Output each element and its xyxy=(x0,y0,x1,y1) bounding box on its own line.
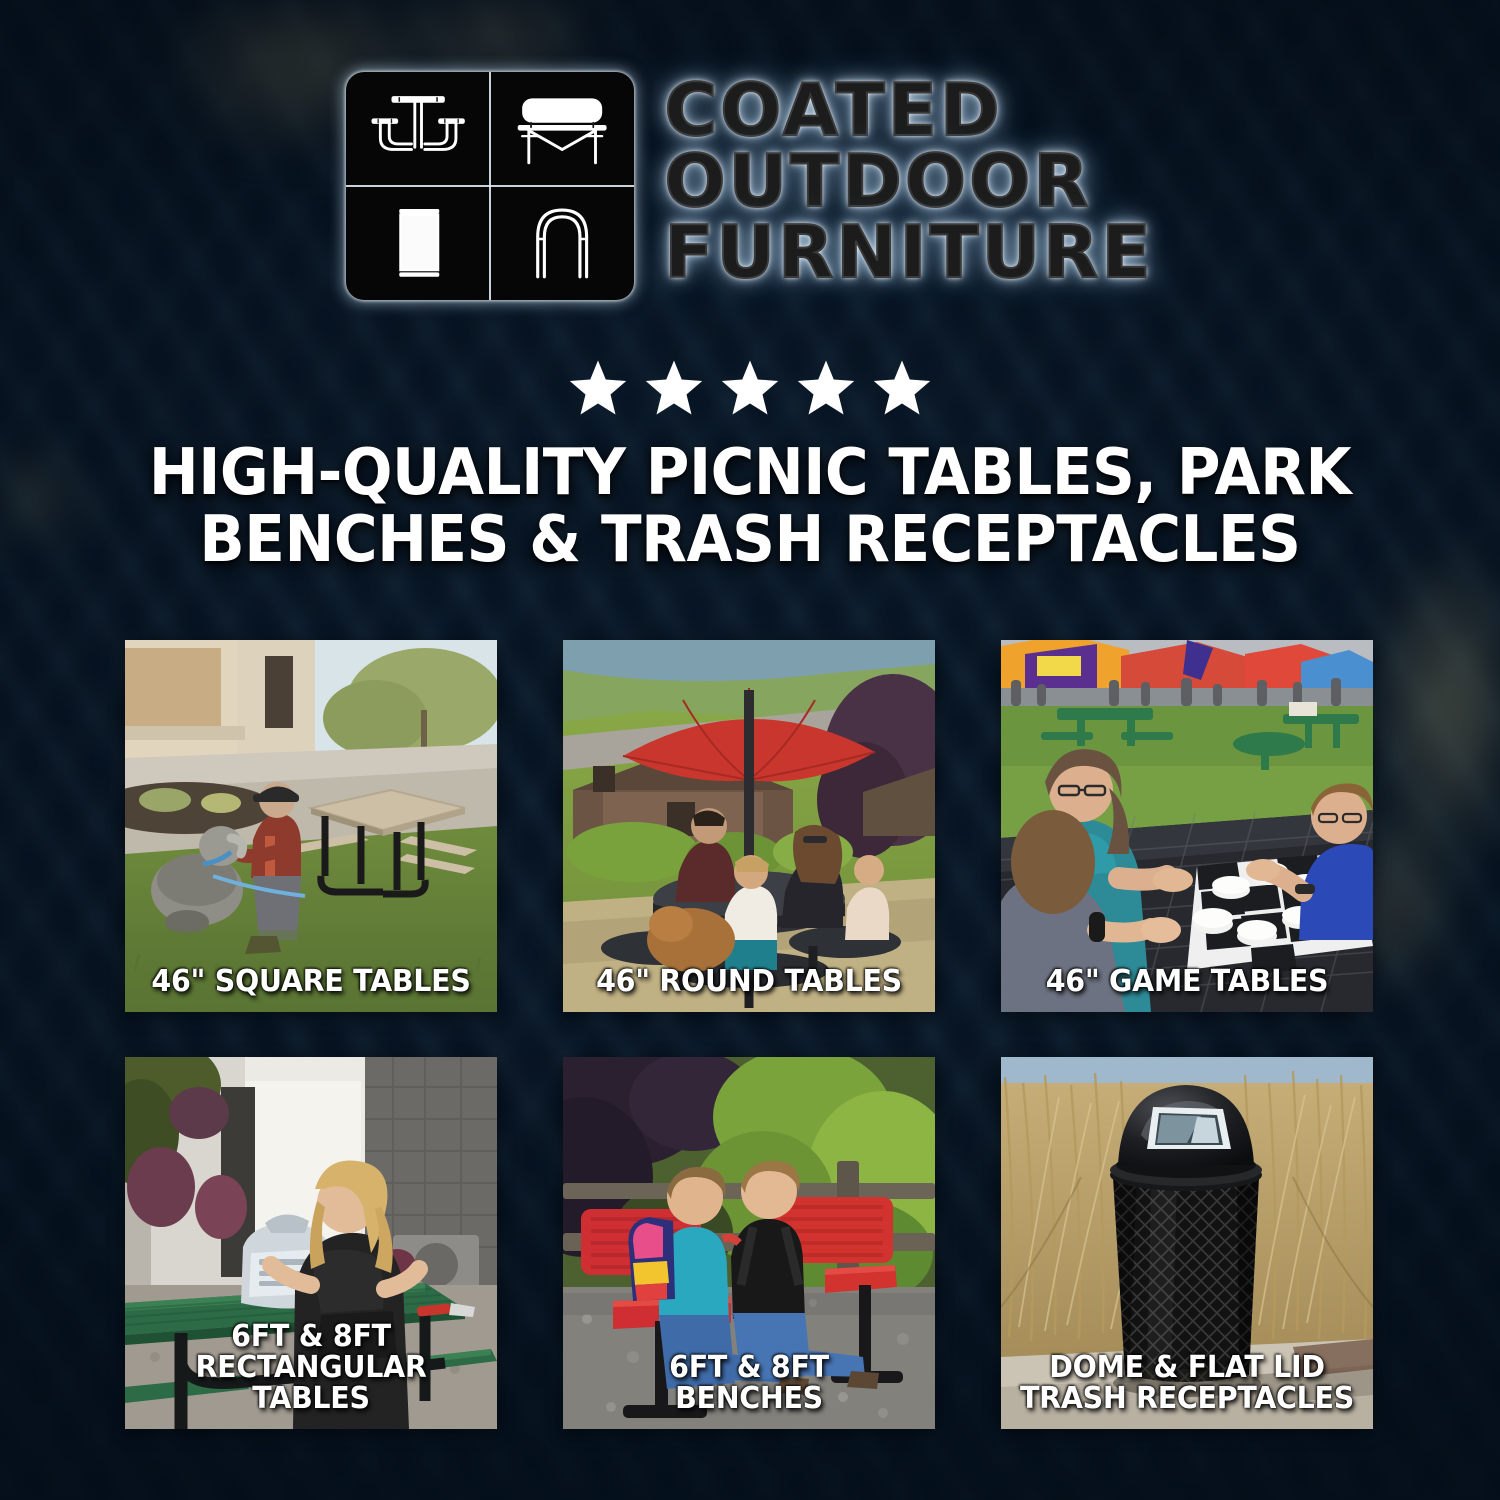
tile-caption: 46" GAME TABLES xyxy=(1016,967,1358,998)
product-tile-trash-receptacles[interactable]: DOME & FLAT LID TRASH RECEPTACLES xyxy=(1001,1057,1373,1429)
caption-line-1: 46" GAME TABLES xyxy=(1016,967,1358,998)
headline-line-2: BENCHES & TRASH RECEPTACLES xyxy=(108,507,1391,574)
tile-caption: 6FT & 8FT RECTANGULAR TABLES xyxy=(140,1322,482,1415)
caption-line-1: 6FT & 8FT xyxy=(140,1322,482,1353)
tile-caption: 6FT & 8FT BENCHES xyxy=(578,1353,920,1415)
caption-line-1: 46" ROUND TABLES xyxy=(578,967,920,998)
logo-line-3: FURNITURE xyxy=(664,218,1153,287)
star-rating xyxy=(0,358,1500,418)
product-tile-square-tables[interactable]: 46" SQUARE TABLES xyxy=(125,640,497,1012)
product-tile-rectangular-tables[interactable]: 6FT & 8FT RECTANGULAR TABLES xyxy=(125,1057,497,1429)
tile-caption: DOME & FLAT LID TRASH RECEPTACLES xyxy=(1016,1353,1358,1415)
caption-line-2: BENCHES xyxy=(578,1384,920,1415)
caption-line-2: RECTANGULAR TABLES xyxy=(140,1353,482,1415)
tile-caption: 46" SQUARE TABLES xyxy=(140,967,482,998)
star-icon-5 xyxy=(871,358,933,418)
park-bench-icon xyxy=(490,72,634,186)
product-category-grid: 46" SQUARE TABLES xyxy=(125,640,1373,1429)
product-tile-round-tables[interactable]: 46" ROUND TABLES xyxy=(563,640,935,1012)
caption-line-1: 46" SQUARE TABLES xyxy=(140,967,482,998)
product-tile-benches[interactable]: 6FT & 8FT BENCHES xyxy=(563,1057,935,1429)
tile-caption: 46" ROUND TABLES xyxy=(578,967,920,998)
headline-line-1: HIGH-QUALITY PICNIC TABLES, PARK xyxy=(108,440,1391,507)
logo-wordmark: COATED OUTDOOR FURNITURE xyxy=(664,72,1153,287)
star-icon-1 xyxy=(567,358,629,418)
brand-logo: COATED OUTDOOR FURNITURE xyxy=(0,72,1500,300)
star-icon-3 xyxy=(719,358,781,418)
logo-line-1: COATED xyxy=(664,76,1153,145)
game-tables-photo xyxy=(1001,640,1373,1012)
star-icon-2 xyxy=(643,358,705,418)
round-tables-photo xyxy=(563,640,935,1012)
dome-lid-trash-receptacle-icon xyxy=(490,186,634,300)
logo-icon-grid xyxy=(346,72,634,300)
flat-lid-trash-receptacle-icon xyxy=(346,186,490,300)
logo-line-2: OUTDOOR xyxy=(664,147,1153,216)
caption-line-1: 6FT & 8FT xyxy=(578,1353,920,1384)
page-title: HIGH-QUALITY PICNIC TABLES, PARK BENCHES… xyxy=(108,440,1391,573)
poster-content: COATED OUTDOOR FURNITURE HIGH-QUALITY PI… xyxy=(0,0,1500,1500)
star-icon-4 xyxy=(795,358,857,418)
product-tile-game-tables[interactable]: 46" GAME TABLES xyxy=(1001,640,1373,1012)
caption-line-2: TRASH RECEPTACLES xyxy=(1016,1384,1358,1415)
caption-line-1: DOME & FLAT LID xyxy=(1016,1353,1358,1384)
picnic-table-icon xyxy=(346,72,490,186)
square-tables-photo xyxy=(125,640,497,1012)
